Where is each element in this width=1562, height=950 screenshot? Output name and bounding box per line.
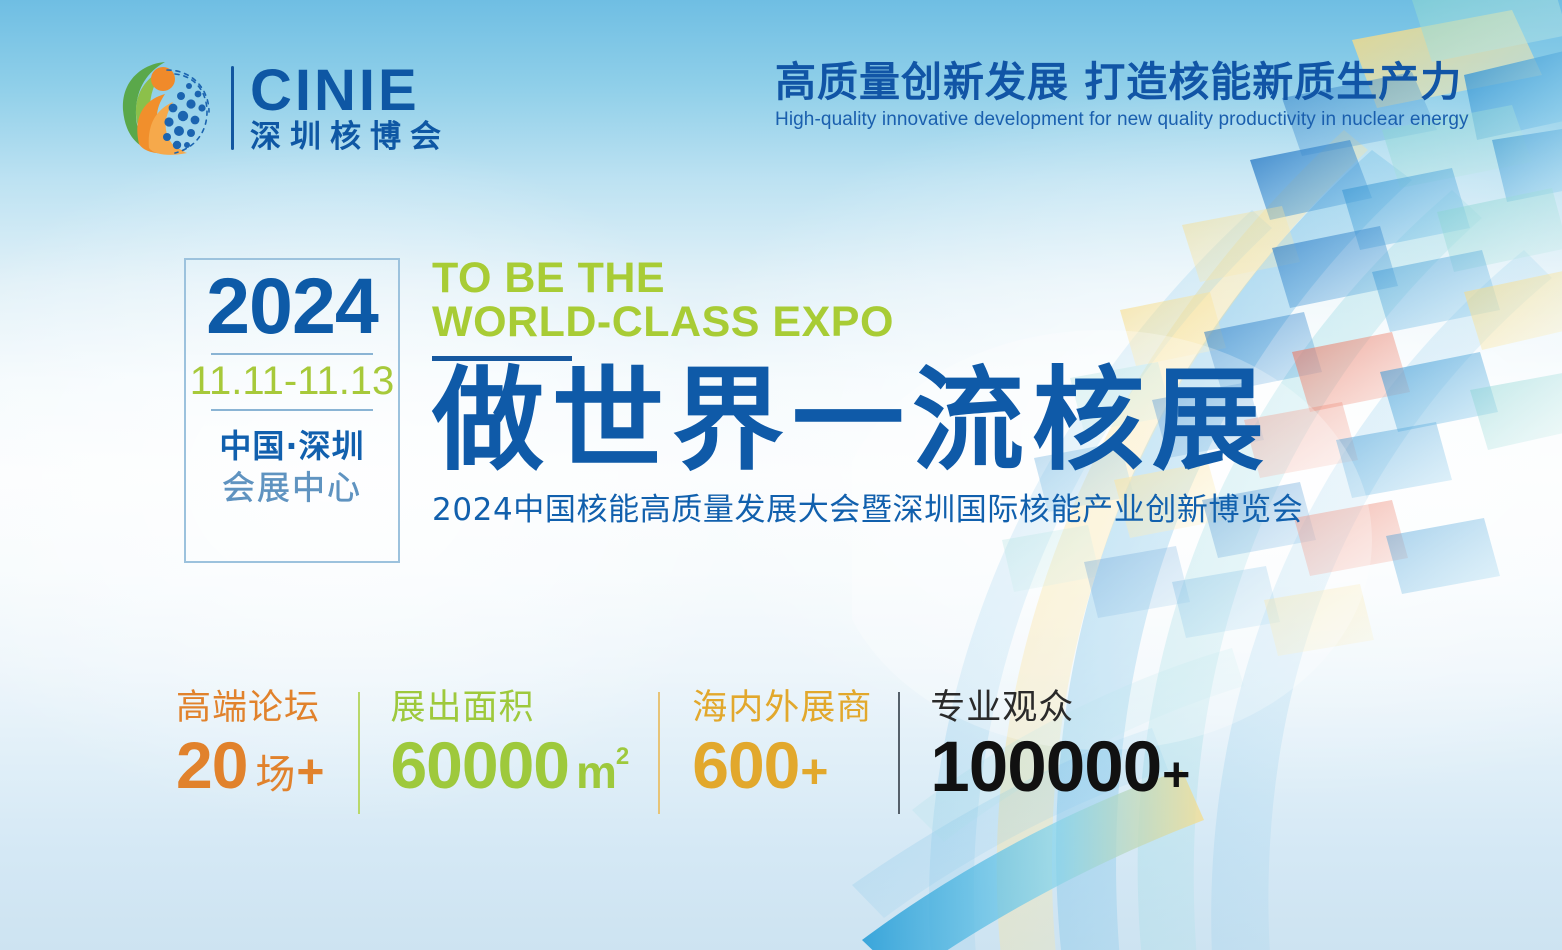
stat-value: 600 + <box>692 730 872 801</box>
cinie-globe-leaf-emblem-icon <box>103 52 215 164</box>
headline-english-line1: TO BE THE <box>432 256 1303 300</box>
event-city: 中国·深圳 <box>219 428 364 466</box>
stats-row: 高端论坛 20 场 + 展出面积 60000 m 2 海内外展商 600 + <box>176 688 1190 814</box>
cinie-logo: CINIE 深圳核博会 <box>103 52 450 164</box>
stat-item-exhibition-area: 展出面积 60000 m 2 <box>360 688 658 802</box>
cinie-wordmark: CINIE 深圳核博会 <box>250 63 450 153</box>
stat-plus: + <box>296 745 324 800</box>
event-date-box: 2024 11.11-11.13 中国·深圳 会展中心 <box>184 258 400 563</box>
event-venue: 会展中心 <box>222 468 362 508</box>
headline-english-line2: WORLD-CLASS EXPO <box>432 300 1303 344</box>
headline-english: TO BE THE WORLD-CLASS EXPO <box>432 256 1303 345</box>
wordmark-chinese: 深圳核博会 <box>250 121 450 154</box>
stat-label: 高端论坛 <box>176 688 324 728</box>
stat-plus: + <box>1162 748 1190 803</box>
stat-unit-superscript: 2 <box>616 743 629 771</box>
datebox-rule-bottom <box>211 409 373 411</box>
stat-number: 20 <box>176 730 247 801</box>
headline-subtitle: 2024中国核能高质量发展大会暨深圳国际核能产业创新博览会 <box>432 484 1303 529</box>
stat-plus: + <box>800 745 828 800</box>
logo-divider <box>231 66 234 150</box>
stat-item-exhibitors: 海内外展商 600 + <box>660 688 898 802</box>
stat-number: 600 <box>692 730 799 801</box>
stat-unit: 场 <box>255 742 295 800</box>
stat-label: 海内外展商 <box>692 688 872 728</box>
stat-item-visitors: 专业观众 100000 + <box>900 688 1190 807</box>
stat-label: 展出面积 <box>390 688 630 728</box>
stat-label: 专业观众 <box>930 688 1190 728</box>
tagline-english: High-quality innovative development for … <box>775 109 1469 131</box>
stat-number: 60000 <box>390 730 569 801</box>
tagline-chinese: 高质量创新发展 打造核能新质生产力 <box>775 58 1469 106</box>
stat-value: 20 场 + <box>176 730 324 801</box>
event-year: 2024 <box>206 266 378 347</box>
event-banner: CINIE 深圳核博会 高质量创新发展 打造核能新质生产力 High-quali… <box>0 0 1562 950</box>
headline-block: TO BE THE WORLD-CLASS EXPO 做世界一流核展 2024中… <box>432 256 1303 529</box>
stat-number: 100000 <box>930 730 1161 807</box>
wordmark-latin: CINIE <box>250 63 450 119</box>
stat-value: 60000 m 2 <box>390 730 630 801</box>
stat-item-forums: 高端论坛 20 场 + <box>176 688 358 802</box>
headline-chinese: 做世界一流核展 <box>432 363 1303 481</box>
datebox-rule-top <box>211 353 373 355</box>
stat-unit-m: m <box>576 745 617 799</box>
stat-value: 100000 + <box>930 730 1190 807</box>
event-dates: 11.11-11.13 <box>190 359 395 404</box>
header-tagline: 高质量创新发展 打造核能新质生产力 High-quality innovativ… <box>775 58 1469 131</box>
